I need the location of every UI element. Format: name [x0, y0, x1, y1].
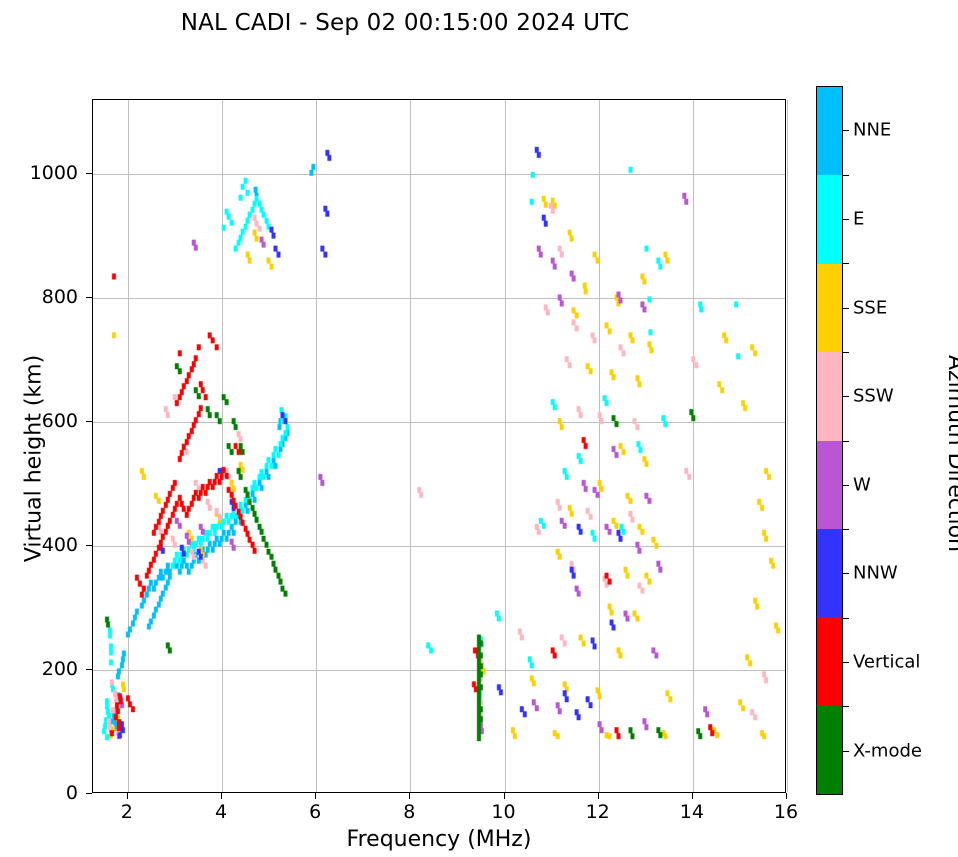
x-tick-label: 4 — [215, 801, 227, 823]
colorbar-band-x-mode — [817, 706, 842, 794]
colorbar-edge-tick — [843, 529, 849, 530]
colorbar-label-nne: NNE — [853, 120, 891, 141]
x-axis-label: Frequency (MHz) — [92, 827, 786, 852]
y-tick — [86, 297, 92, 298]
colorbar-label-vertical: Vertical — [853, 652, 920, 673]
colorbar-band-e — [817, 175, 842, 263]
colorbar-tick — [843, 130, 849, 131]
x-tick-label: 16 — [774, 801, 798, 823]
x-tick-label: 10 — [491, 801, 515, 823]
y-tick — [86, 421, 92, 422]
x-tick-label: 12 — [586, 801, 610, 823]
gridline-vertical — [787, 100, 788, 792]
colorbar-tick — [843, 219, 849, 220]
scatter-canvas — [93, 100, 785, 792]
colorbar-tick — [843, 662, 849, 663]
x-tick — [315, 793, 316, 799]
colorbar-label-nnw: NNW — [853, 563, 898, 584]
colorbar-label-sse: SSE — [853, 297, 887, 318]
colorbar-edge-tick — [843, 618, 849, 619]
colorbar-label: Azimuth Direction — [943, 99, 958, 808]
colorbar-band-ssw — [817, 352, 842, 440]
colorbar-tick — [843, 485, 849, 486]
colorbar-label-e: E — [853, 208, 864, 229]
x-tick-label: 6 — [309, 801, 321, 823]
figure-title: NAL CADI - Sep 02 00:15:00 2024 UTC — [0, 10, 810, 36]
colorbar-tick — [843, 308, 849, 309]
colorbar — [816, 86, 843, 795]
colorbar-edge-tick — [843, 441, 849, 442]
y-tick — [86, 669, 92, 670]
colorbar-band-sse — [817, 264, 842, 352]
x-tick — [786, 793, 787, 799]
colorbar-edge-tick — [843, 352, 849, 353]
colorbar-edge-tick — [843, 706, 849, 707]
colorbar-band-vertical — [817, 617, 842, 705]
x-tick-label: 2 — [121, 801, 133, 823]
plot-area — [92, 99, 786, 793]
ionogram-figure: NAL CADI - Sep 02 00:15:00 2024 UTC 2468… — [0, 0, 958, 857]
x-tick-label: 8 — [403, 801, 415, 823]
colorbar-tick — [843, 751, 849, 752]
y-tick — [86, 173, 92, 174]
y-tick — [86, 545, 92, 546]
colorbar-label-x-mode: X-mode — [853, 740, 922, 761]
x-tick — [598, 793, 599, 799]
colorbar-edge-tick — [843, 175, 849, 176]
colorbar-edge-tick — [843, 263, 849, 264]
colorbar-tick — [843, 396, 849, 397]
colorbar-band-nnw — [817, 529, 842, 617]
x-tick — [692, 793, 693, 799]
colorbar-label-w: W — [853, 474, 871, 495]
colorbar-band-nne — [817, 87, 842, 175]
colorbar-label-ssw: SSW — [853, 386, 894, 407]
x-tick-label: 14 — [680, 801, 704, 823]
colorbar-band-w — [817, 441, 842, 529]
y-tick — [86, 793, 92, 794]
y-axis-label: Virtual height (km) — [22, 112, 47, 806]
x-tick — [221, 793, 222, 799]
x-tick — [504, 793, 505, 799]
x-tick — [409, 793, 410, 799]
colorbar-tick — [843, 573, 849, 574]
x-tick — [127, 793, 128, 799]
